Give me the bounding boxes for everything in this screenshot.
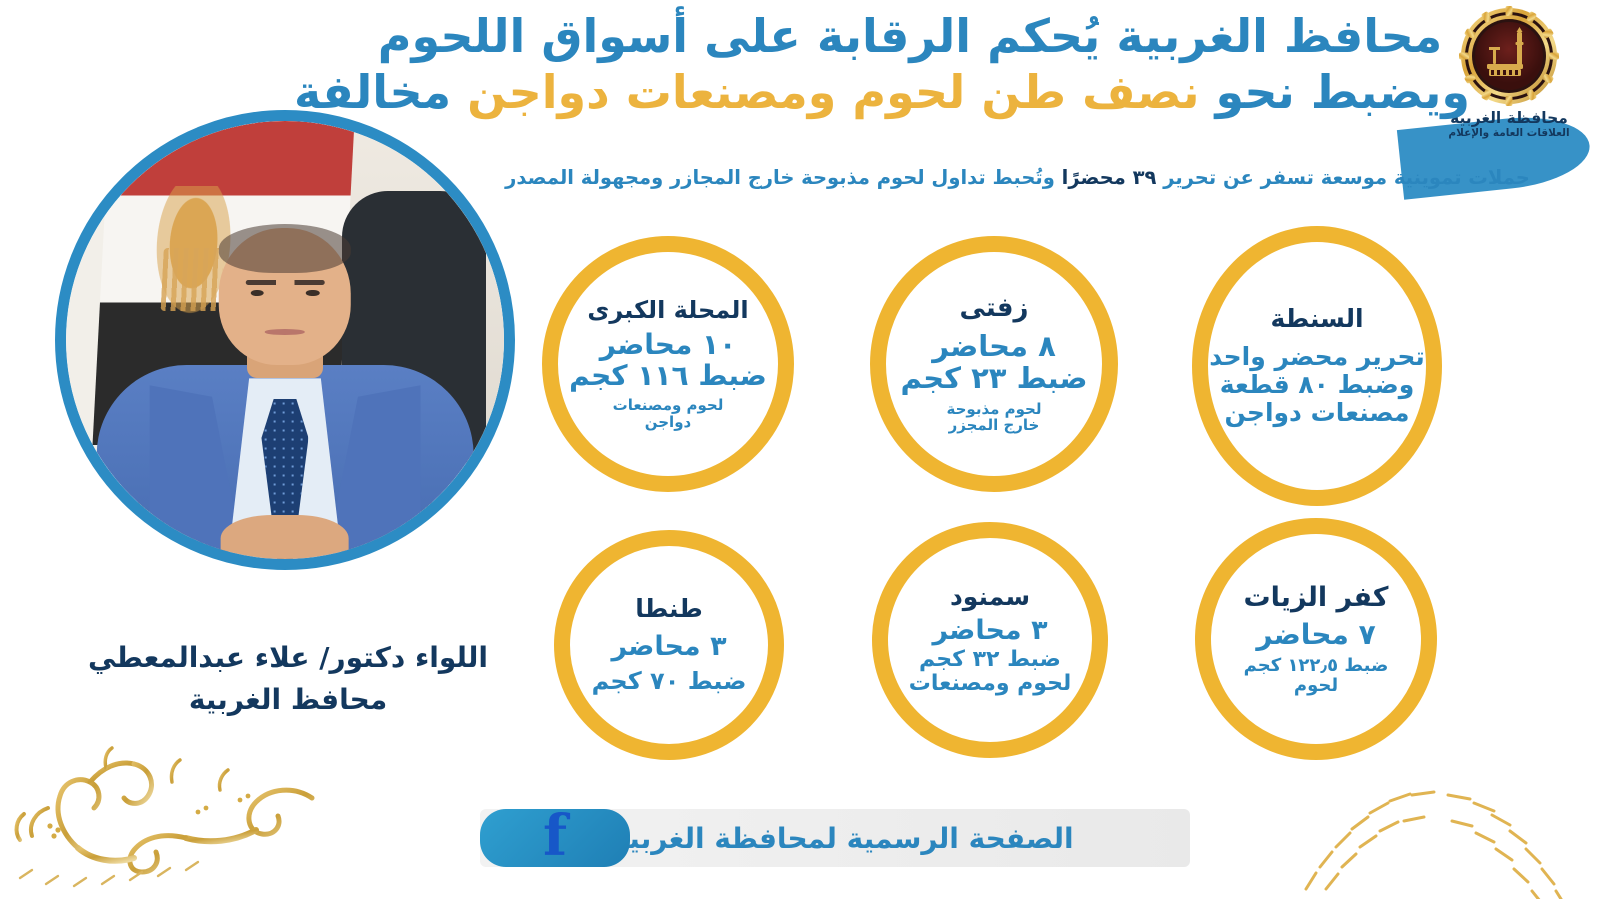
- stat-main-text: ١٠ محاضرضبط ١١٦ كجم: [569, 329, 767, 392]
- stat-circle-tanta: طنطا ٣ محاضر ضبط ٧٠ كجم: [554, 530, 784, 760]
- headline-line-1: محافظ الغربية يُحكم الرقابة على أسواق ال…: [350, 8, 1470, 64]
- logo-department: العلاقات العامة والإعلام: [1430, 128, 1588, 140]
- ramadan-kareem-calligraphy: [0, 738, 324, 898]
- stat-circle-kafr-el-zayat: كفر الزيات ٧ محاضر ضبط ١٢٢٫٥ كجملحوم: [1195, 518, 1437, 760]
- radiating-dashes-decoration: [1262, 739, 1592, 899]
- subtitle-highlight: ٣٩ محضرًا: [1062, 166, 1157, 189]
- eye-right: [306, 290, 319, 297]
- clasped-hands: [221, 515, 349, 559]
- stat-note-text: ضبط ٣٢ كجملحوم ومصنعات: [909, 648, 1071, 697]
- governorate-seal-gear-minaret-icon: [1457, 4, 1561, 108]
- headline-block: محافظ الغربية يُحكم الرقابة على أسواق ال…: [350, 8, 1470, 120]
- mouth: [265, 329, 305, 334]
- governor-name: اللواء دكتور/ علاء عبدالمعطي: [58, 640, 518, 676]
- stat-circle-zefta: زفتى ٨ محاضرضبط ٢٣ كجم لحوم مذبوحةخارج ا…: [870, 236, 1118, 492]
- stat-note-text: ضبط ١٢٢٫٥ كجملحوم: [1244, 656, 1389, 696]
- governor-portrait-frame: [55, 110, 515, 570]
- headline-line-2: ويضبط نحو نصف طن لحوم ومصنعات دواجن مخال…: [350, 64, 1470, 120]
- hair: [219, 224, 351, 273]
- eye-left: [251, 290, 264, 297]
- stat-main-text: ٣ محاضر: [611, 632, 726, 662]
- stat-circle-el-santa: السنطة تحرير محضر واحد وضبط ٨٠ قطعة مصنع…: [1192, 226, 1442, 506]
- stat-main-text: ٧ محاضر: [1256, 619, 1375, 650]
- stat-note-text: لحوم ومصنعاتدواجن: [613, 397, 724, 431]
- facebook-page-bar[interactable]: f الصفحة الرسمية لمحافظة الغربية: [480, 809, 1190, 867]
- governor-role: محافظ الغربية: [58, 682, 518, 718]
- subtitle: حملات تموينية موسعة تسفر عن تحرير ٣٩ محض…: [435, 166, 1600, 189]
- headline-line-2-highlight: نصف طن لحوم ومصنعات دواجن: [467, 65, 1199, 119]
- stat-city-name: طنطا: [635, 595, 703, 624]
- governor-portrait-image: [66, 121, 504, 559]
- stat-note-text: ضبط ٧٠ كجم: [592, 668, 747, 695]
- stat-main-text: ٣ محاضر: [932, 616, 1047, 646]
- governor-figure: [97, 235, 474, 559]
- subtitle-part-1: حملات تموينية موسعة تسفر عن تحرير: [1163, 166, 1530, 189]
- stat-circle-mahalla: المحلة الكبرى ١٠ محاضرضبط ١١٦ كجم لحوم و…: [542, 236, 794, 492]
- stat-city-name: سمنود: [950, 583, 1030, 612]
- stat-circle-samannoud: سمنود ٣ محاضر ضبط ٣٢ كجملحوم ومصنعات: [872, 522, 1108, 758]
- headline-line-2-prefix: ويضبط نحو: [1215, 65, 1470, 119]
- stat-main-text: ٨ محاضرضبط ٢٣ كجم: [900, 330, 1087, 395]
- stat-city-name: السنطة: [1270, 305, 1363, 334]
- governor-caption: اللواء دكتور/ علاء عبدالمعطي محافظ الغرب…: [58, 640, 518, 719]
- stat-city-name: المحلة الكبرى: [587, 297, 748, 325]
- stat-city-name: كفر الزيات: [1244, 582, 1389, 613]
- eyebrows: [245, 280, 324, 285]
- infographic-canvas: محافظة الغربية العلاقات العامة والإعلام …: [0, 0, 1600, 899]
- head: [219, 228, 351, 365]
- stat-city-name: زفتى: [960, 294, 1029, 324]
- stat-main-text: تحرير محضر واحد وضبط ٨٠ قطعة مصنعات دواج…: [1208, 343, 1426, 427]
- stat-note-text: لحوم مذبوحةخارج المجزر: [947, 401, 1042, 435]
- facebook-f-icon[interactable]: f: [480, 809, 630, 867]
- subtitle-part-2: وتُحبط تداول لحوم مذبوحة خارج المجازر وم…: [505, 166, 1055, 189]
- headline-line-2-suffix: مخالفة: [294, 65, 451, 119]
